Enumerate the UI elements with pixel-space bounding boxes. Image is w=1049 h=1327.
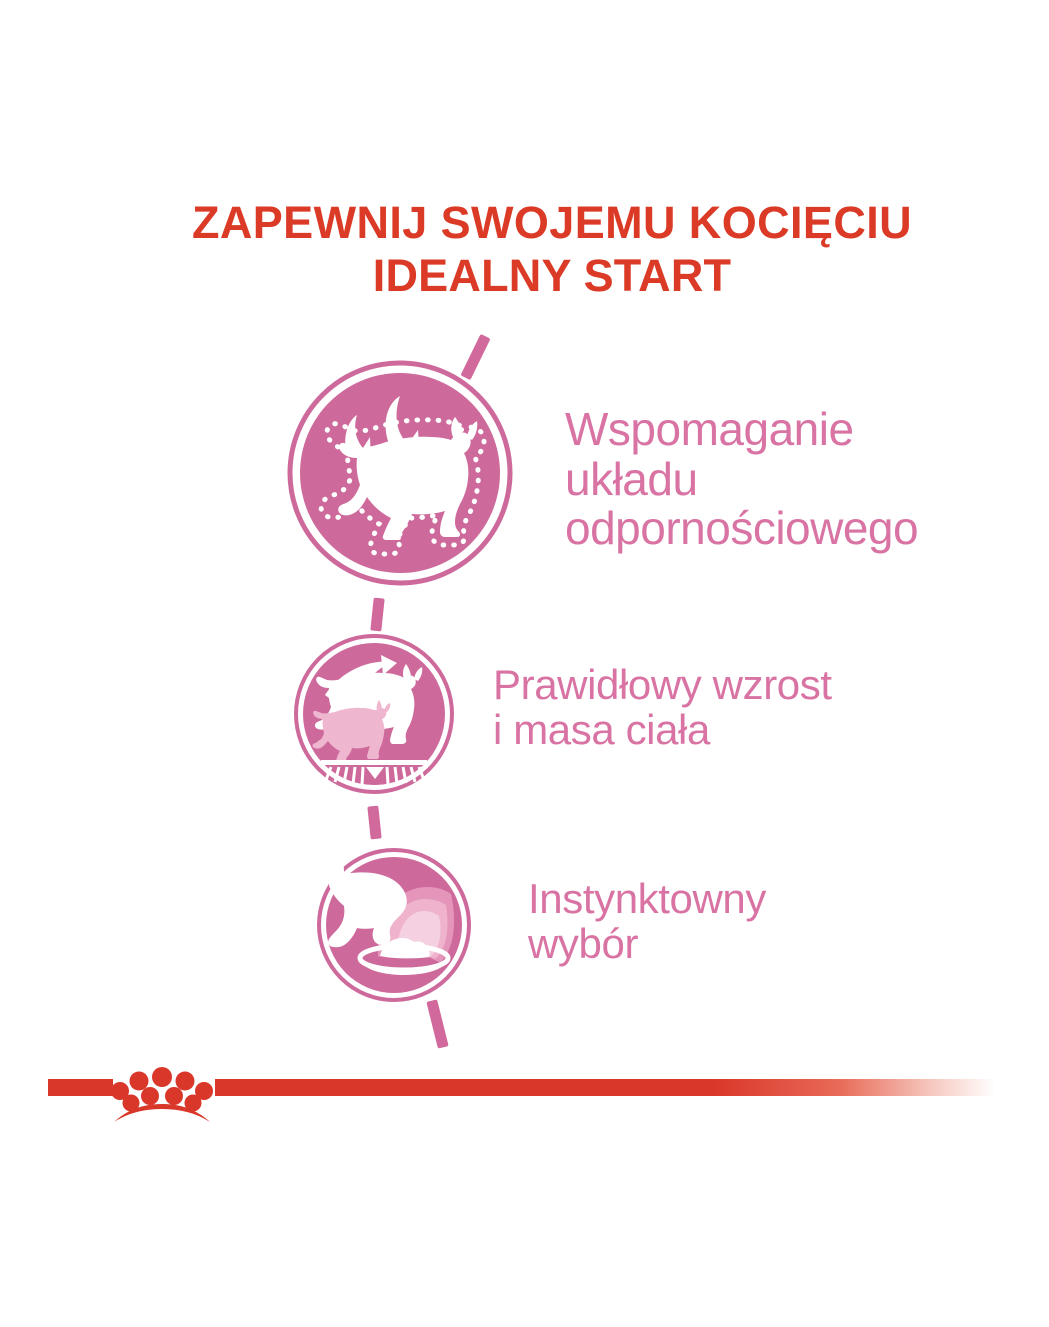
connector-dash-between-2-3 xyxy=(367,806,381,840)
cat-eating-bowl-icon xyxy=(316,847,472,1003)
benefit-label-3: Instynktowny wybór xyxy=(528,876,766,967)
benefit-label-2: Prawidłowy wzrost i masa ciała xyxy=(493,662,832,753)
benefit-row-2: Prawidłowy wzrost i masa ciała xyxy=(293,633,993,793)
page-title: ZAPEWNIJ SWOJEMU KOCIĘCIU IDEALNY START xyxy=(112,196,992,302)
benefit-label-1: Wspomaganie układu odpornościowego xyxy=(565,405,918,554)
poster-canvas: ZAPEWNIJ SWOJEMU KOCIĘCIU IDEALNY START xyxy=(0,0,1049,1327)
headline-line-2: IDEALNY START xyxy=(112,249,992,302)
headline-line-1: ZAPEWNIJ SWOJEMU KOCIĘCIU xyxy=(112,196,992,249)
benefit-row-1: Wspomaganie układu odpornościowego xyxy=(285,358,1005,598)
royal-canin-crown-logo xyxy=(108,1054,218,1124)
footer-brand-bar xyxy=(0,1054,1049,1128)
growth-weight-scale-icon xyxy=(293,633,455,795)
connector-dash-between-1-2 xyxy=(370,598,384,632)
benefit-row-3: Instynktowny wybór xyxy=(316,847,996,1007)
kitten-immune-shield-icon xyxy=(285,358,515,588)
